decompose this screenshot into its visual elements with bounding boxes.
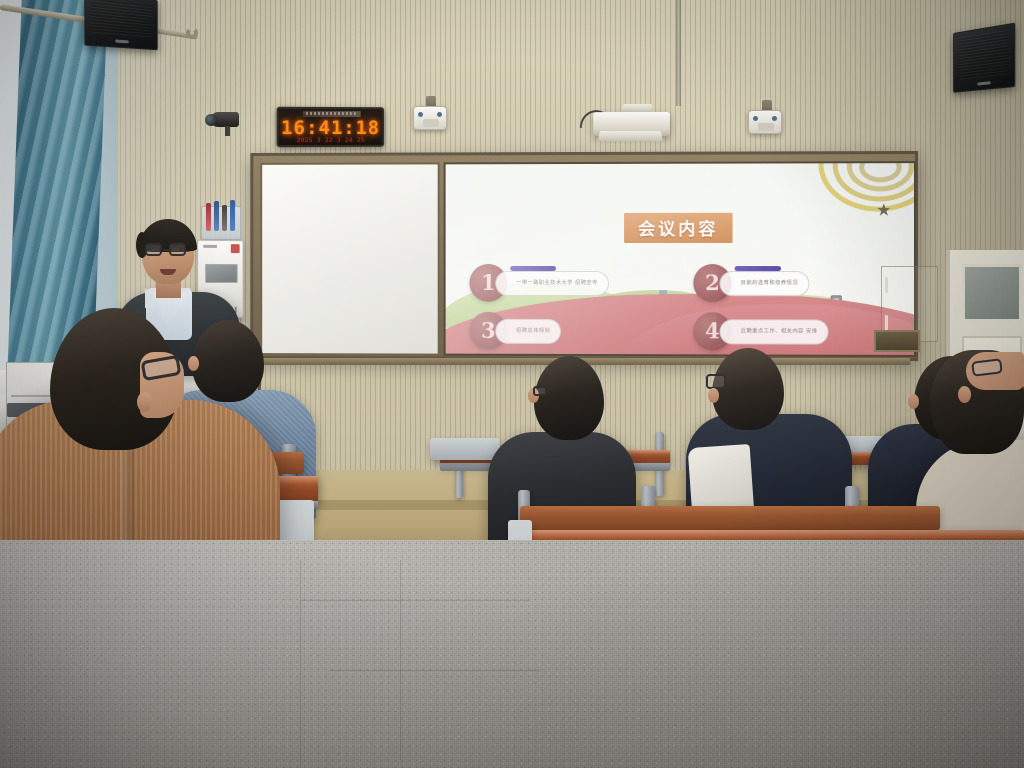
classroom-photo: 16:41:18 2025 3 22 3 24 25 ★ 会议内容 (0, 0, 1024, 768)
door-glass-panel (962, 264, 1022, 322)
speaker-logo (977, 81, 990, 85)
sensor-lens-icon (758, 123, 774, 131)
bench-backrest (520, 506, 940, 530)
slide-item-list: 1 一带一路职业技术大学 招聘宣传 2 目前的选育和培养情况 3 (465, 264, 897, 355)
attendee-glasses-icon (533, 386, 547, 396)
floor-tile-seam (330, 670, 540, 671)
sensor-lens-icon (423, 119, 439, 127)
projection-screen[interactable]: ★ 会议内容 1 一带一路职业技术大学 招聘宣传 2 目前的选育和培养情况 (444, 161, 916, 357)
slide-item-pill: 近期重点工作、相关内容 安排 (719, 319, 828, 344)
attendee-head (712, 348, 784, 430)
slide-item-text: 招聘总体规划 (516, 326, 550, 335)
security-camera (205, 112, 239, 132)
slide-item-pill: 目前的选育和培养情况 (719, 271, 809, 296)
floor-tile-seam (300, 600, 530, 601)
wall-speaker-left (84, 0, 157, 50)
attendee-ear (137, 392, 152, 412)
speaker-grill (958, 30, 1009, 80)
curtain-rod-end-icon (186, 27, 198, 39)
slide-title: 会议内容 (446, 213, 914, 243)
attendee-head (534, 356, 604, 440)
attendee-head (192, 320, 264, 402)
attendee-ear (958, 386, 971, 403)
slide-item-accent-bar (735, 266, 781, 271)
attendee-glasses-icon (706, 374, 726, 389)
speaker-logo (115, 39, 128, 43)
clock-time-display: 16:41:18 (279, 117, 383, 139)
slide-item-pill: 一带一路职业技术大学 招聘宣传 (495, 270, 609, 295)
clock-date-display: 2025 3 22 3 24 25 (279, 137, 383, 144)
camera-mount (225, 126, 230, 136)
floor-tile-seam (300, 560, 301, 768)
wall-sensor-center (413, 106, 447, 130)
slide-title-text: 会议内容 (624, 213, 733, 243)
slide-item-1: 1 一带一路职业技术大学 招聘宣传 (469, 264, 608, 302)
glasses-lens (169, 243, 186, 256)
slide-item-text: 近期重点工作、相关内容 安排 (741, 327, 818, 336)
slide-item-pill: 招聘总体规划 (495, 318, 561, 343)
desk-sheen (512, 530, 1024, 539)
projector-lens-icon (598, 131, 663, 141)
wall-sensor-right (748, 110, 782, 134)
camera-lens-icon (205, 114, 217, 126)
slide-item-2: 2 目前的选育和培养情况 (693, 264, 809, 302)
ceiling-projector (593, 104, 674, 143)
slide-item-accent-bar (510, 265, 556, 270)
attendee-ear (708, 388, 719, 403)
slide-item-text: 目前的选育和培养情况 (741, 279, 798, 288)
wall-speaker-right (953, 23, 1015, 93)
speaker-grill (91, 0, 153, 37)
whiteboard-assembly: ★ 会议内容 1 一带一路职业技术大学 招聘宣传 2 目前的选育和培养情况 (250, 151, 918, 361)
floor-texture (0, 540, 1024, 768)
floor-tile-seam (400, 560, 401, 760)
seat-panel (430, 438, 500, 460)
slide-item-4: 4 近期重点工作、相关内容 安排 (693, 312, 828, 350)
classroom-floor (0, 540, 1024, 768)
digital-wall-clock: 16:41:18 2025 3 22 3 24 25 (277, 107, 385, 147)
attendee-ear (908, 394, 919, 409)
slide-item-3: 3 招聘总体规划 (469, 312, 561, 350)
wall-frame (874, 330, 920, 352)
projector-pole (676, 0, 681, 106)
attendee-ear (188, 356, 199, 371)
whiteboard-panel-left[interactable] (260, 162, 439, 355)
glasses-bridge (163, 249, 170, 251)
slide-item-text: 一带一路职业技术大学 招聘宣传 (516, 279, 598, 288)
glasses-lens (145, 243, 162, 256)
